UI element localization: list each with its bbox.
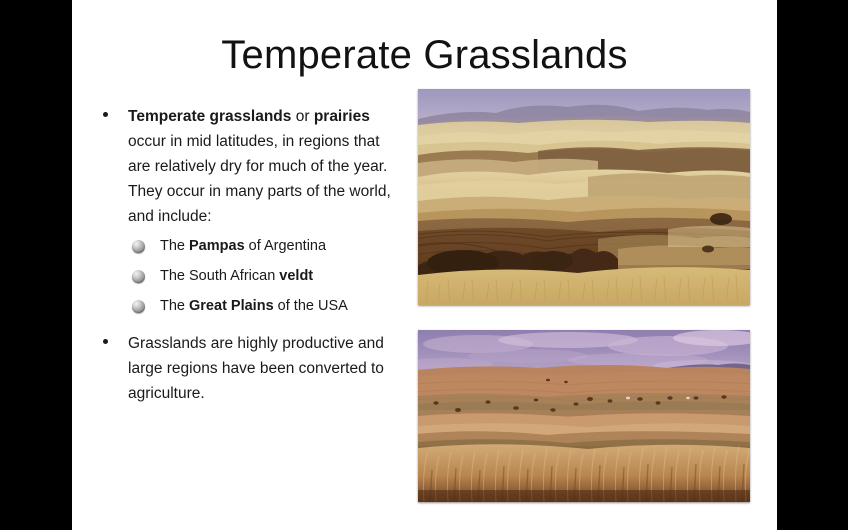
slide-body-column: Temperate grasslands or prairies occur i… xyxy=(94,104,399,412)
sub-bullet-text-pampas: The Pampas of Argentina xyxy=(160,238,326,254)
slide-stage: Temperate Grasslands Temperate grassland… xyxy=(0,0,848,530)
bullet-1-bold-a: Temperate grasslands xyxy=(128,108,291,125)
pampas-plain-b: of Argentina xyxy=(245,238,326,254)
sub-bullet-item-pampas: The Pampas of Argentina xyxy=(94,236,399,257)
plains-plain-a: The xyxy=(160,298,189,314)
bullet-dot-icon xyxy=(103,339,108,344)
bullet-item-1: Temperate grasslands or prairies occur i… xyxy=(94,104,399,230)
grey-sphere-bullet-icon xyxy=(132,240,145,253)
pampas-plain-a: The xyxy=(160,238,189,254)
veldt-bold: veldt xyxy=(279,268,313,284)
prairie-grazing-cattle-photo xyxy=(418,330,750,502)
prairie-cattle-illustration xyxy=(418,330,750,502)
bullet-text-2: Grasslands are highly productive and lar… xyxy=(128,335,384,402)
grey-sphere-bullet-icon xyxy=(132,300,145,313)
bullet-text-1: Temperate grasslands or prairies occur i… xyxy=(128,108,391,225)
rolling-wheat-hills-photo xyxy=(418,89,750,305)
wheat-hills-illustration xyxy=(418,89,750,305)
grey-sphere-bullet-icon xyxy=(132,270,145,283)
slide-canvas: Temperate Grasslands Temperate grassland… xyxy=(72,0,777,530)
pampas-bold: Pampas xyxy=(189,238,245,254)
plains-bold: Great Plains xyxy=(189,298,274,314)
bullet-item-2: Grasslands are highly productive and lar… xyxy=(94,331,399,406)
sub-bullet-item-veldt: The South African veldt xyxy=(94,266,399,287)
bullet-1-plain-a: or xyxy=(291,108,313,125)
sub-bullet-text-great-plains: The Great Plains of the USA xyxy=(160,298,348,314)
veldt-plain: The South African xyxy=(160,268,279,284)
plains-plain-b: of the USA xyxy=(274,298,348,314)
bullet-1-plain-b: occur in mid latitudes, in regions that … xyxy=(128,133,391,225)
sub-bullet-list: The Pampas of Argentina The South Africa… xyxy=(94,236,399,317)
sub-bullet-text-veldt: The South African veldt xyxy=(160,268,313,284)
bullet-dot-icon xyxy=(103,112,108,117)
bullet-1-bold-b: prairies xyxy=(314,108,370,125)
page-title: Temperate Grasslands xyxy=(72,33,777,77)
sub-bullet-item-great-plains: The Great Plains of the USA xyxy=(94,296,399,317)
